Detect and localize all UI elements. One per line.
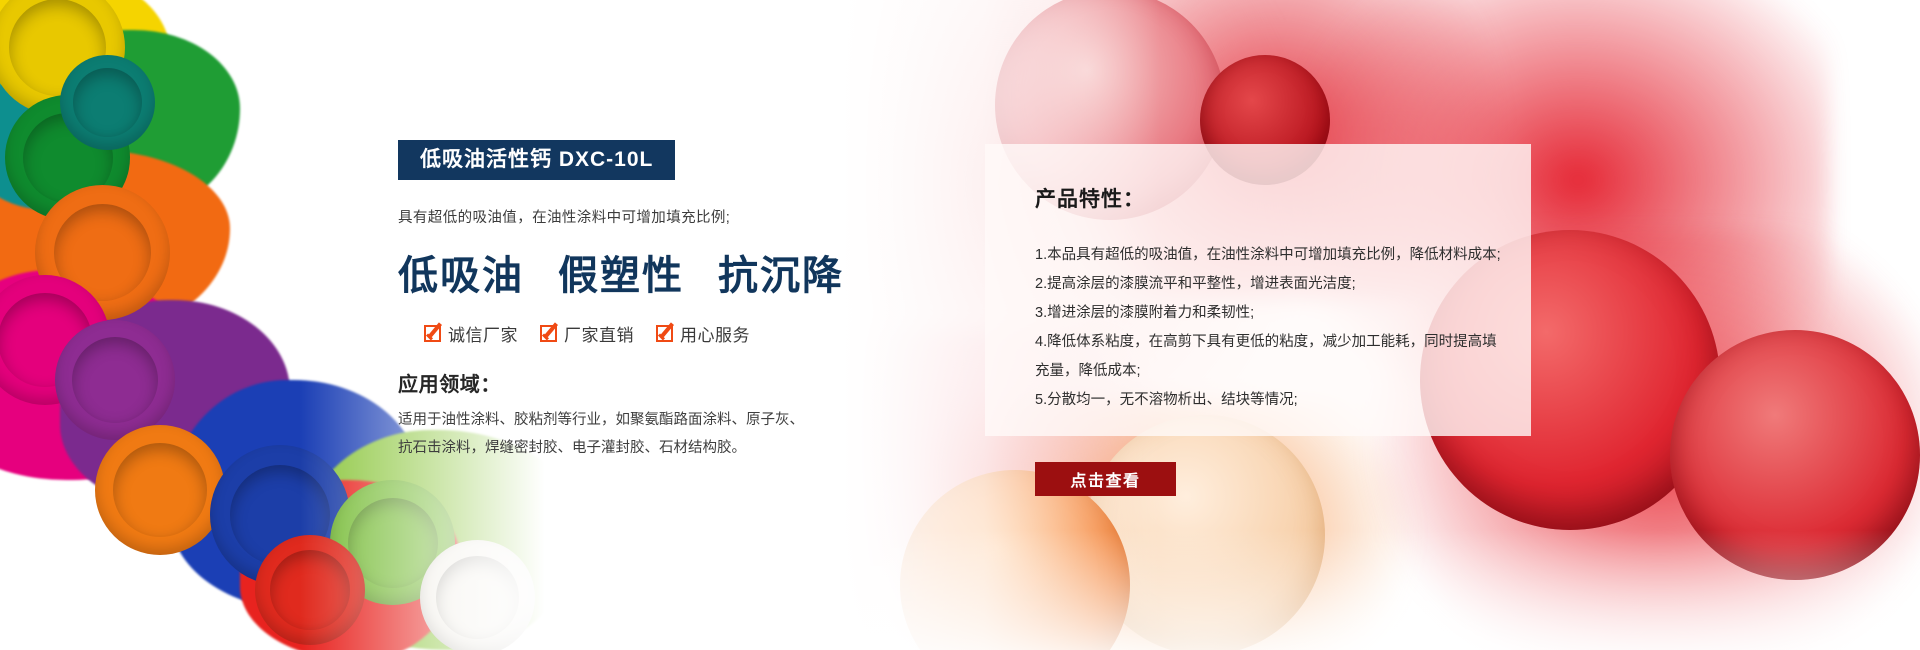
feature-panel-title: 产品特性： bbox=[1035, 183, 1505, 213]
feature-list-item: 3.增进涂层的漆膜附着力和柔韧性; bbox=[1035, 299, 1505, 328]
headline-keywords: 低吸油假塑性抗沉降 bbox=[398, 243, 958, 301]
headline-word-2: 假塑性 bbox=[558, 253, 684, 298]
view-details-button[interactable]: 点击查看 bbox=[1035, 462, 1176, 496]
application-title: 应用领域： bbox=[398, 368, 958, 397]
headline-word-1: 低吸油 bbox=[398, 253, 524, 298]
paint-pot-orange-2 bbox=[95, 425, 225, 555]
feature-panel-content: 产品特性： 1.本品具有超低的吸油值，在油性涂料中可增加填充比例，降低材料成本;… bbox=[1035, 183, 1505, 415]
promo-banner: 低吸油活性钙 DXC-10L 具有超低的吸油值，在油性涂料中可增加填充比例; 低… bbox=[0, 0, 1920, 650]
checkbox-checked-icon bbox=[540, 325, 557, 342]
paint-pot-purple bbox=[55, 320, 175, 440]
feature-list-item: 2.提高涂层的漆膜流平和平整性，增进表面光洁度; bbox=[1035, 270, 1505, 299]
trust-badge-2: 厂家直销 bbox=[540, 321, 634, 346]
headline-word-3: 抗沉降 bbox=[718, 253, 844, 298]
trust-badges: 诚信厂家 厂家直销 用心服务 bbox=[398, 321, 958, 346]
trust-badge-3: 用心服务 bbox=[656, 321, 750, 346]
checkbox-checked-icon bbox=[424, 325, 441, 342]
trust-badge-1: 诚信厂家 bbox=[424, 321, 518, 346]
trust-badge-label: 诚信厂家 bbox=[448, 321, 518, 346]
paint-pot-teal bbox=[60, 55, 155, 150]
application-body: 适用于油性涂料、胶粘剂等行业，如聚氨酯路面涂料、原子灰、抗石击涂料，焊缝密封胶、… bbox=[398, 407, 818, 462]
checkbox-checked-icon bbox=[656, 325, 673, 342]
feature-list-item: 1.本品具有超低的吸油值，在油性涂料中可增加填充比例，降低材料成本; bbox=[1035, 241, 1505, 270]
promo-copy-column: 低吸油活性钙 DXC-10L 具有超低的吸油值，在油性涂料中可增加填充比例; 低… bbox=[398, 140, 958, 462]
product-subline: 具有超低的吸油值，在油性涂料中可增加填充比例; bbox=[398, 206, 958, 227]
feature-list-item: 5.分散均一，无不溶物析出、结块等情况; bbox=[1035, 386, 1505, 415]
feature-list: 1.本品具有超低的吸油值，在油性涂料中可增加填充比例，降低材料成本; 2.提高涂… bbox=[1035, 241, 1505, 415]
trust-badge-label: 厂家直销 bbox=[564, 321, 634, 346]
feature-list-item: 4.降低体系粘度，在高剪下具有更低的粘度，减少加工能耗，同时提高填充量，降低成本… bbox=[1035, 328, 1505, 386]
right-art-bottom-fade bbox=[840, 530, 1920, 650]
product-tag: 低吸油活性钙 DXC-10L bbox=[398, 140, 675, 180]
trust-badge-label: 用心服务 bbox=[680, 321, 750, 346]
